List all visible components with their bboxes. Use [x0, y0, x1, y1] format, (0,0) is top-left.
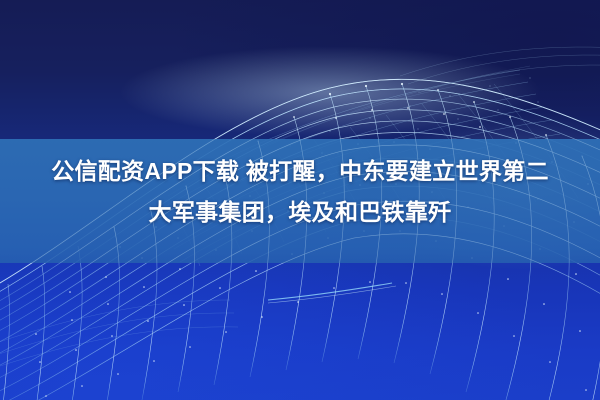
banner-headline: 公信配资APP下载 被打醒，中东要建立世界第二 大军事集团，埃及和巴铁靠歼	[0, 151, 600, 233]
headline-line-1: 公信配资APP下载 被打醒，中东要建立世界第二	[0, 151, 600, 192]
banner-image: 公信配资APP下载 被打醒，中东要建立世界第二 大军事集团，埃及和巴铁靠歼	[0, 0, 600, 400]
headline-line-2: 大军事集团，埃及和巴铁靠歼	[0, 192, 600, 233]
